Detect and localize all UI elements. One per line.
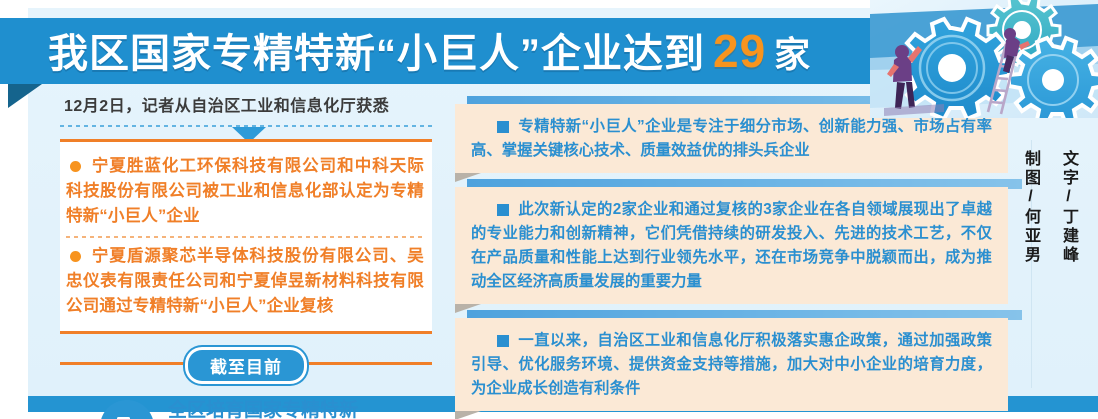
left-column: 12月2日，记者从自治区工业和信息化厅获悉 宁夏胜蓝化工环保科技有限公司和中科天… bbox=[60, 92, 432, 392]
page-title: 我区国家专精特新“小巨人”企业达到 29 家 bbox=[48, 28, 811, 74]
date-lead-text: 12月2日，记者从自治区工业和信息化厅获悉 bbox=[60, 92, 432, 116]
bullet-text-2: 宁夏盾源聚芯半导体科技股份有限公司、吴忠仪表有限责任公司和宁夏倬昱新材料科技有限… bbox=[66, 247, 424, 315]
note-text: 专精特新“小巨人”企业是专注于细分市场、创新能力强、市场占有率高、掌握关键核心技… bbox=[471, 115, 992, 162]
square-bullet-icon bbox=[497, 335, 509, 347]
note-text-3: 一直以来，自治区工业和信息化厅积极落实惠企政策，通过加强政策引导、优化服务环境、… bbox=[471, 332, 992, 396]
banner-fold-shape bbox=[8, 84, 42, 108]
note-text: 一直以来，自治区工业和信息化厅积极落实惠企政策，通过加强政策引导、优化服务环境、… bbox=[471, 329, 992, 400]
credit-text-author: 文字/丁建峰 bbox=[1056, 150, 1080, 265]
square-bullet-icon bbox=[497, 121, 509, 133]
summary-text: 全区培育国家专精特新 “小巨人”企业29家 bbox=[168, 398, 358, 419]
round-bullet-icon bbox=[70, 251, 81, 262]
note-text: 此次新认定的2家企业和通过复核的3家企业在各自领域展现出了卓越的专业能力和创新精… bbox=[471, 198, 992, 293]
summary-line-1: 全区培育国家专精特新 bbox=[168, 398, 358, 419]
dotted-divider-inner bbox=[66, 236, 424, 238]
gears-and-workers-illustration bbox=[870, 0, 1098, 118]
round-bullet-icon bbox=[70, 161, 81, 172]
bullet-text-1: 宁夏胜蓝化工环保科技有限公司和中科天际科技股份有限公司被工业和信息化部认定为专精… bbox=[66, 157, 424, 225]
title-main-text: 我区国家专精特新“小巨人”企业达到 bbox=[48, 34, 705, 74]
status-badge: 截至目前 bbox=[188, 350, 304, 381]
title-count: 29 bbox=[713, 28, 766, 74]
credit-graphic-author: 制图/何亚男 bbox=[1018, 150, 1042, 265]
square-bullet-icon bbox=[497, 204, 509, 216]
note-card-body: 此次新认定的2家企业和通过复核的3家企业在各自领域展现出了卓越的专业能力和创新精… bbox=[455, 187, 1008, 304]
summary-row: 全区培育国家专精特新 “小巨人”企业29家 bbox=[60, 398, 432, 419]
note-card-fold bbox=[455, 411, 481, 419]
title-unit: 家 bbox=[774, 37, 811, 73]
note-card: 一直以来，自治区工业和信息化厅积极落实惠企政策，通过加强政策引导、优化服务环境、… bbox=[455, 318, 1030, 411]
as-of-badge-row: 截至目前 bbox=[60, 350, 432, 376]
left-bullets-card: 宁夏胜蓝化工环保科技有限公司和中科天际科技股份有限公司被工业和信息化部认定为专精… bbox=[60, 139, 432, 334]
title-banner: 我区国家专精特新“小巨人”企业达到 29 家 bbox=[0, 18, 938, 84]
note-card: 此次新认定的2家企业和通过复核的3家企业在各自领域展现出了卓越的专业能力和创新精… bbox=[455, 187, 1030, 304]
note-text-1: 专精特新“小巨人”企业是专注于细分市场、创新能力强、市场占有率高、掌握关键核心技… bbox=[471, 118, 992, 159]
note-card-body: 一直以来，自治区工业和信息化厅积极落实惠企政策，通过加强政策引导、优化服务环境、… bbox=[455, 318, 1008, 411]
note-text-2: 此次新认定的2家企业和通过复核的3家企业在各自领域展现出了卓越的专业能力和创新精… bbox=[471, 201, 992, 289]
credits-block: 文字/丁建峰 制图/何亚男 bbox=[1018, 150, 1080, 265]
list-item: 宁夏胜蓝化工环保科技有限公司和中科天际科技股份有限公司被工业和信息化部认定为专精… bbox=[66, 154, 424, 228]
infographic-poster: 我区国家专精特新“小巨人”企业达到 29 家 12月2日，记者从自治区工业和信息… bbox=[0, 0, 1098, 419]
list-item: 宁夏盾源聚芯半导体科技股份有限公司、吴忠仪表有限责任公司和宁夏倬昱新材料科技有限… bbox=[66, 244, 424, 318]
building-icon bbox=[100, 400, 154, 419]
right-column: 专精特新“小巨人”企业是专注于细分市场、创新能力强、市场占有率高、掌握关键核心技… bbox=[455, 104, 1030, 419]
